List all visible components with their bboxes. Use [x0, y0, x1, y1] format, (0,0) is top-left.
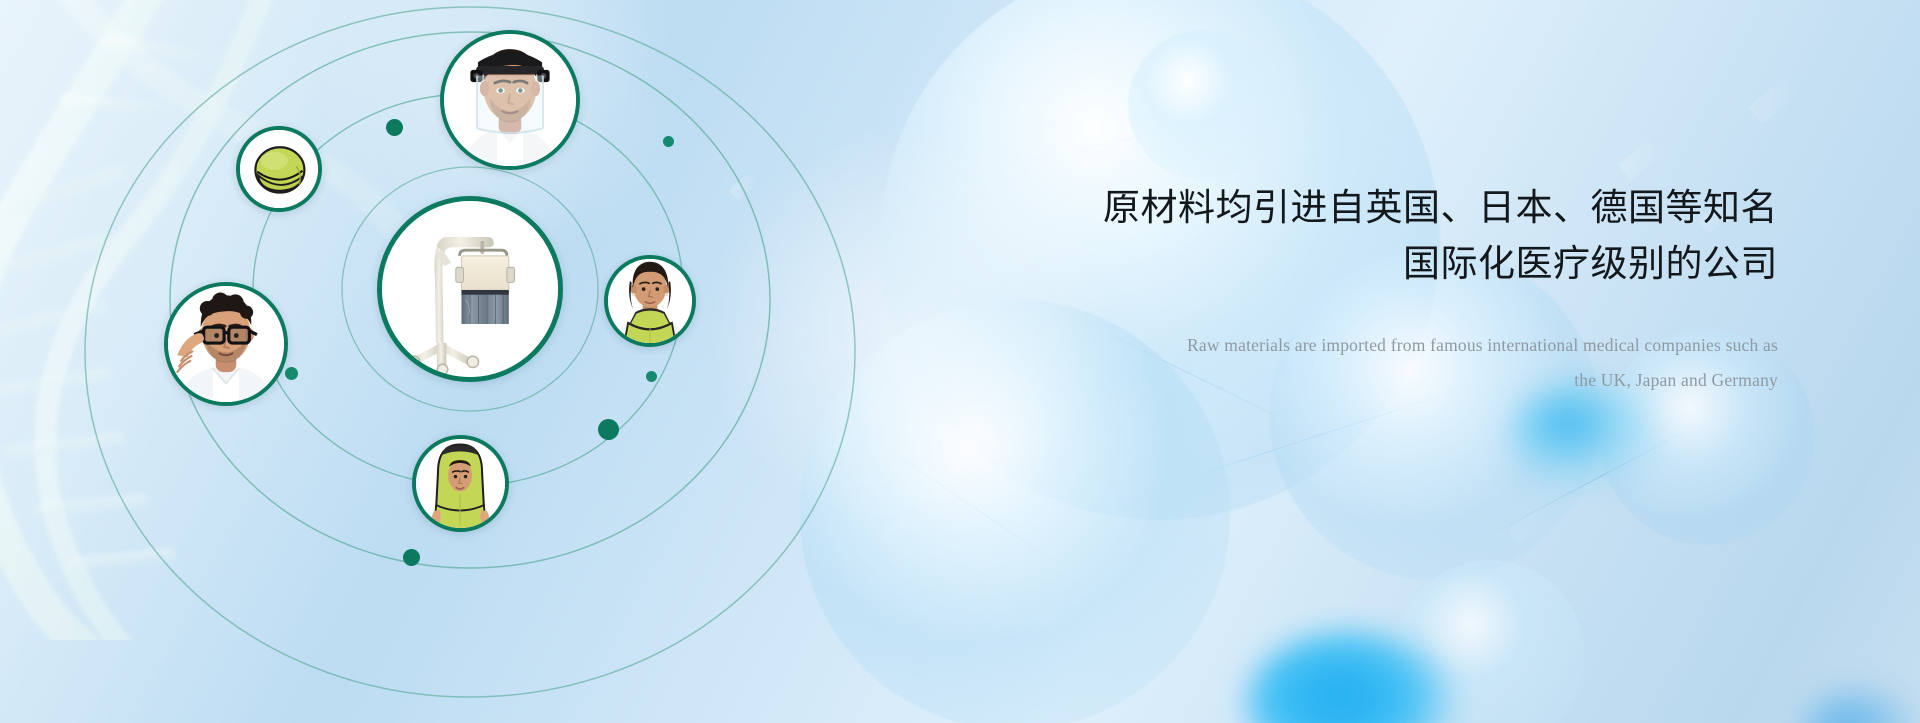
headline-line-1: 原材料均引进自英国、日本、德国等知名 — [1103, 187, 1778, 228]
orbit-dot — [285, 367, 298, 380]
bg-bond-line — [980, 116, 1235, 171]
node-face-shield-man[interactable] — [440, 30, 580, 170]
bg-shard — [1118, 111, 1156, 146]
bg-molecule-sphere — [1128, 30, 1278, 180]
lead-cap-icon — [240, 130, 318, 208]
node-lead-collar-woman[interactable] — [604, 255, 696, 347]
page-title: 原材料均引进自英国、日本、德国等知名 国际化医疗级别的公司 — [1098, 180, 1778, 292]
bg-shard — [1188, 53, 1217, 80]
bg-shard — [1748, 78, 1797, 124]
bg-cyan-accent — [1245, 630, 1455, 723]
hero-copy: 原材料均引进自英国、日本、德国等知名 国际化医疗级别的公司 Raw materi… — [1098, 180, 1778, 398]
face-shield-man-photo — [444, 34, 576, 166]
bg-bond-line — [1480, 409, 1728, 541]
node-lead-cap[interactable] — [236, 126, 322, 212]
lead-glasses-man-photo — [168, 286, 284, 402]
hero-subtitle: Raw materials are imported from famous i… — [1098, 328, 1778, 398]
subtitle-line-2: the UK, Japan and Germany — [1098, 363, 1778, 398]
bg-cyan-accent — [1800, 690, 1920, 723]
lead-hood-woman-photo — [416, 439, 505, 528]
orbit-dot — [403, 549, 420, 566]
subtitle-line-1: Raw materials are imported from famous i… — [1098, 328, 1778, 363]
mobile-lead-shield-icon — [382, 201, 558, 377]
bg-shard — [1618, 139, 1661, 180]
orbit-dot — [646, 371, 657, 382]
headline-line-2: 国际化医疗级别的公司 — [1098, 236, 1778, 292]
node-lead-glasses-man[interactable] — [164, 282, 288, 406]
bg-shard — [1508, 512, 1546, 545]
bg-shard — [1038, 603, 1071, 632]
orbit-dot — [386, 119, 403, 136]
node-mobile-lead-shield[interactable] — [377, 196, 563, 382]
orbit-dot — [663, 136, 674, 147]
lead-collar-woman-photo — [608, 259, 692, 343]
orbit-dot — [598, 419, 619, 440]
hero-banner: 原材料均引进自英国、日本、德国等知名 国际化医疗级别的公司 Raw materi… — [0, 0, 1920, 723]
node-lead-hood-woman[interactable] — [412, 435, 509, 532]
bg-molecule-sphere — [1395, 560, 1585, 723]
